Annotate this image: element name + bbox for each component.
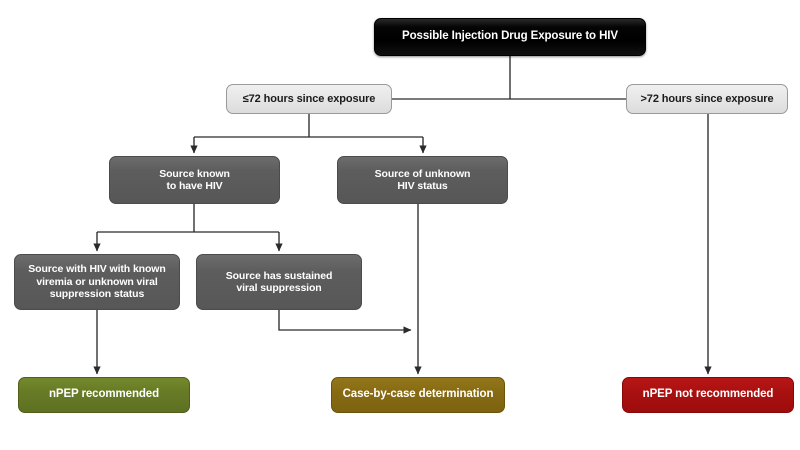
node-root[interactable]: Possible Injection Drug Exposure to HIV [374,18,646,56]
node-source-known-hiv[interactable]: Source knownto have HIV [109,156,280,204]
node-over-72-hours-label: >72 hours since exposure [627,93,787,106]
edge-sustained-to-case-by-case [279,310,411,330]
node-source-unknown-hiv-status-label: Source of unknownHIV status [338,168,507,193]
node-case-by-case-determination[interactable]: Case-by-case determination [331,377,505,413]
node-source-known-hiv-label: Source knownto have HIV [110,168,279,193]
node-npep-recommended-label: nPEP recommended [19,388,189,402]
node-over-72-hours[interactable]: >72 hours since exposure [626,84,788,114]
node-source-unknown-hiv-status[interactable]: Source of unknownHIV status [337,156,508,204]
node-known-viremia[interactable]: Source with HIV with knownviremia or unk… [14,254,180,310]
node-npep-recommended[interactable]: nPEP recommended [18,377,190,413]
node-known-viremia-label: Source with HIV with knownviremia or unk… [15,263,179,300]
node-within-72-hours-label: ≤72 hours since exposure [227,93,391,106]
node-case-by-case-determination-label: Case-by-case determination [332,388,504,402]
node-within-72-hours[interactable]: ≤72 hours since exposure [226,84,392,114]
flowchart-canvas: Possible Injection Drug Exposure to HIV … [0,0,800,450]
node-sustained-viral-suppression[interactable]: Source has sustainedviral suppression [196,254,362,310]
node-npep-not-recommended-label: nPEP not recommended [623,388,793,402]
node-npep-not-recommended[interactable]: nPEP not recommended [622,377,794,413]
node-root-label: Possible Injection Drug Exposure to HIV [375,30,645,44]
node-sustained-viral-suppression-label: Source has sustainedviral suppression [197,270,361,295]
